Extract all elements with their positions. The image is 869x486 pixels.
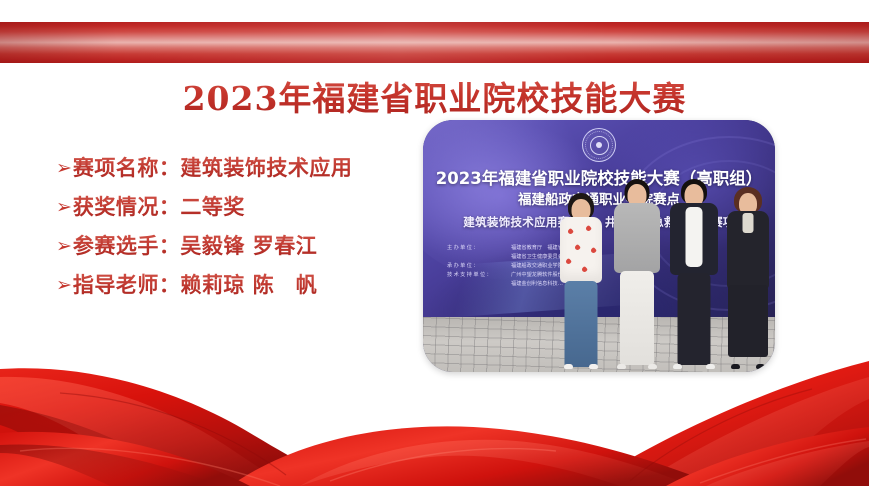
list-item-text: 获奖情况：二等奖 — [73, 191, 245, 221]
organizer-value: 福建金创利信息科技… — [511, 281, 563, 287]
list-item: ➢ 获奖情况：二等奖 — [56, 191, 416, 225]
arrow-bullet-icon: ➢ — [56, 159, 72, 178]
torso — [614, 203, 660, 273]
bottom-silk-decoration — [0, 341, 869, 486]
arrow-bullet-icon: ➢ — [56, 237, 72, 256]
arrow-bullet-icon: ➢ — [56, 198, 72, 217]
list-item: ➢ 指导老师：赖莉琼 陈 帆 — [56, 269, 416, 303]
list-item-text: 赛项名称：建筑装饰技术应用 — [73, 152, 353, 182]
slide-canvas: 2023年福建省职业院校技能大赛 ➢ 赛项名称：建筑装饰技术应用 ➢ 获奖情况：… — [0, 0, 869, 486]
list-item-text: 参赛选手：吴毅锋 罗春江 — [73, 230, 317, 260]
list-item-text: 指导老师：赖莉琼 陈 帆 — [73, 269, 317, 299]
backdrop-title: 2023年福建省职业院校技能大赛（高职组） — [423, 165, 775, 189]
organizer-key: 承办单位： — [447, 262, 511, 271]
competition-emblem-icon — [582, 128, 616, 162]
arrow-bullet-icon: ➢ — [56, 276, 72, 295]
top-ribbon-shading — [0, 22, 869, 63]
torso — [560, 217, 602, 283]
emblem-core — [590, 136, 609, 155]
collar — [743, 213, 754, 233]
list-item: ➢ 赛项名称：建筑装饰技术应用 — [56, 152, 416, 186]
details-list: ➢ 赛项名称：建筑装饰技术应用 ➢ 获奖情况：二等奖 ➢ 参赛选手：吴毅锋 罗春… — [56, 152, 416, 308]
award-group-photo: 2023年福建省职业院校技能大赛（高职组） 福建船政交通职业学院赛点 建筑装饰技… — [423, 120, 775, 372]
organizer-key: 技术支持单位： — [447, 271, 511, 280]
organizer-key: 主办单位： — [447, 244, 511, 253]
list-item: ➢ 参赛选手：吴毅锋 罗春江 — [56, 230, 416, 264]
page-title: 2023年福建省职业院校技能大赛 — [0, 72, 869, 120]
shirt — [686, 207, 703, 267]
organizer-value: 福建省卫生健康委员会 — [511, 254, 563, 260]
